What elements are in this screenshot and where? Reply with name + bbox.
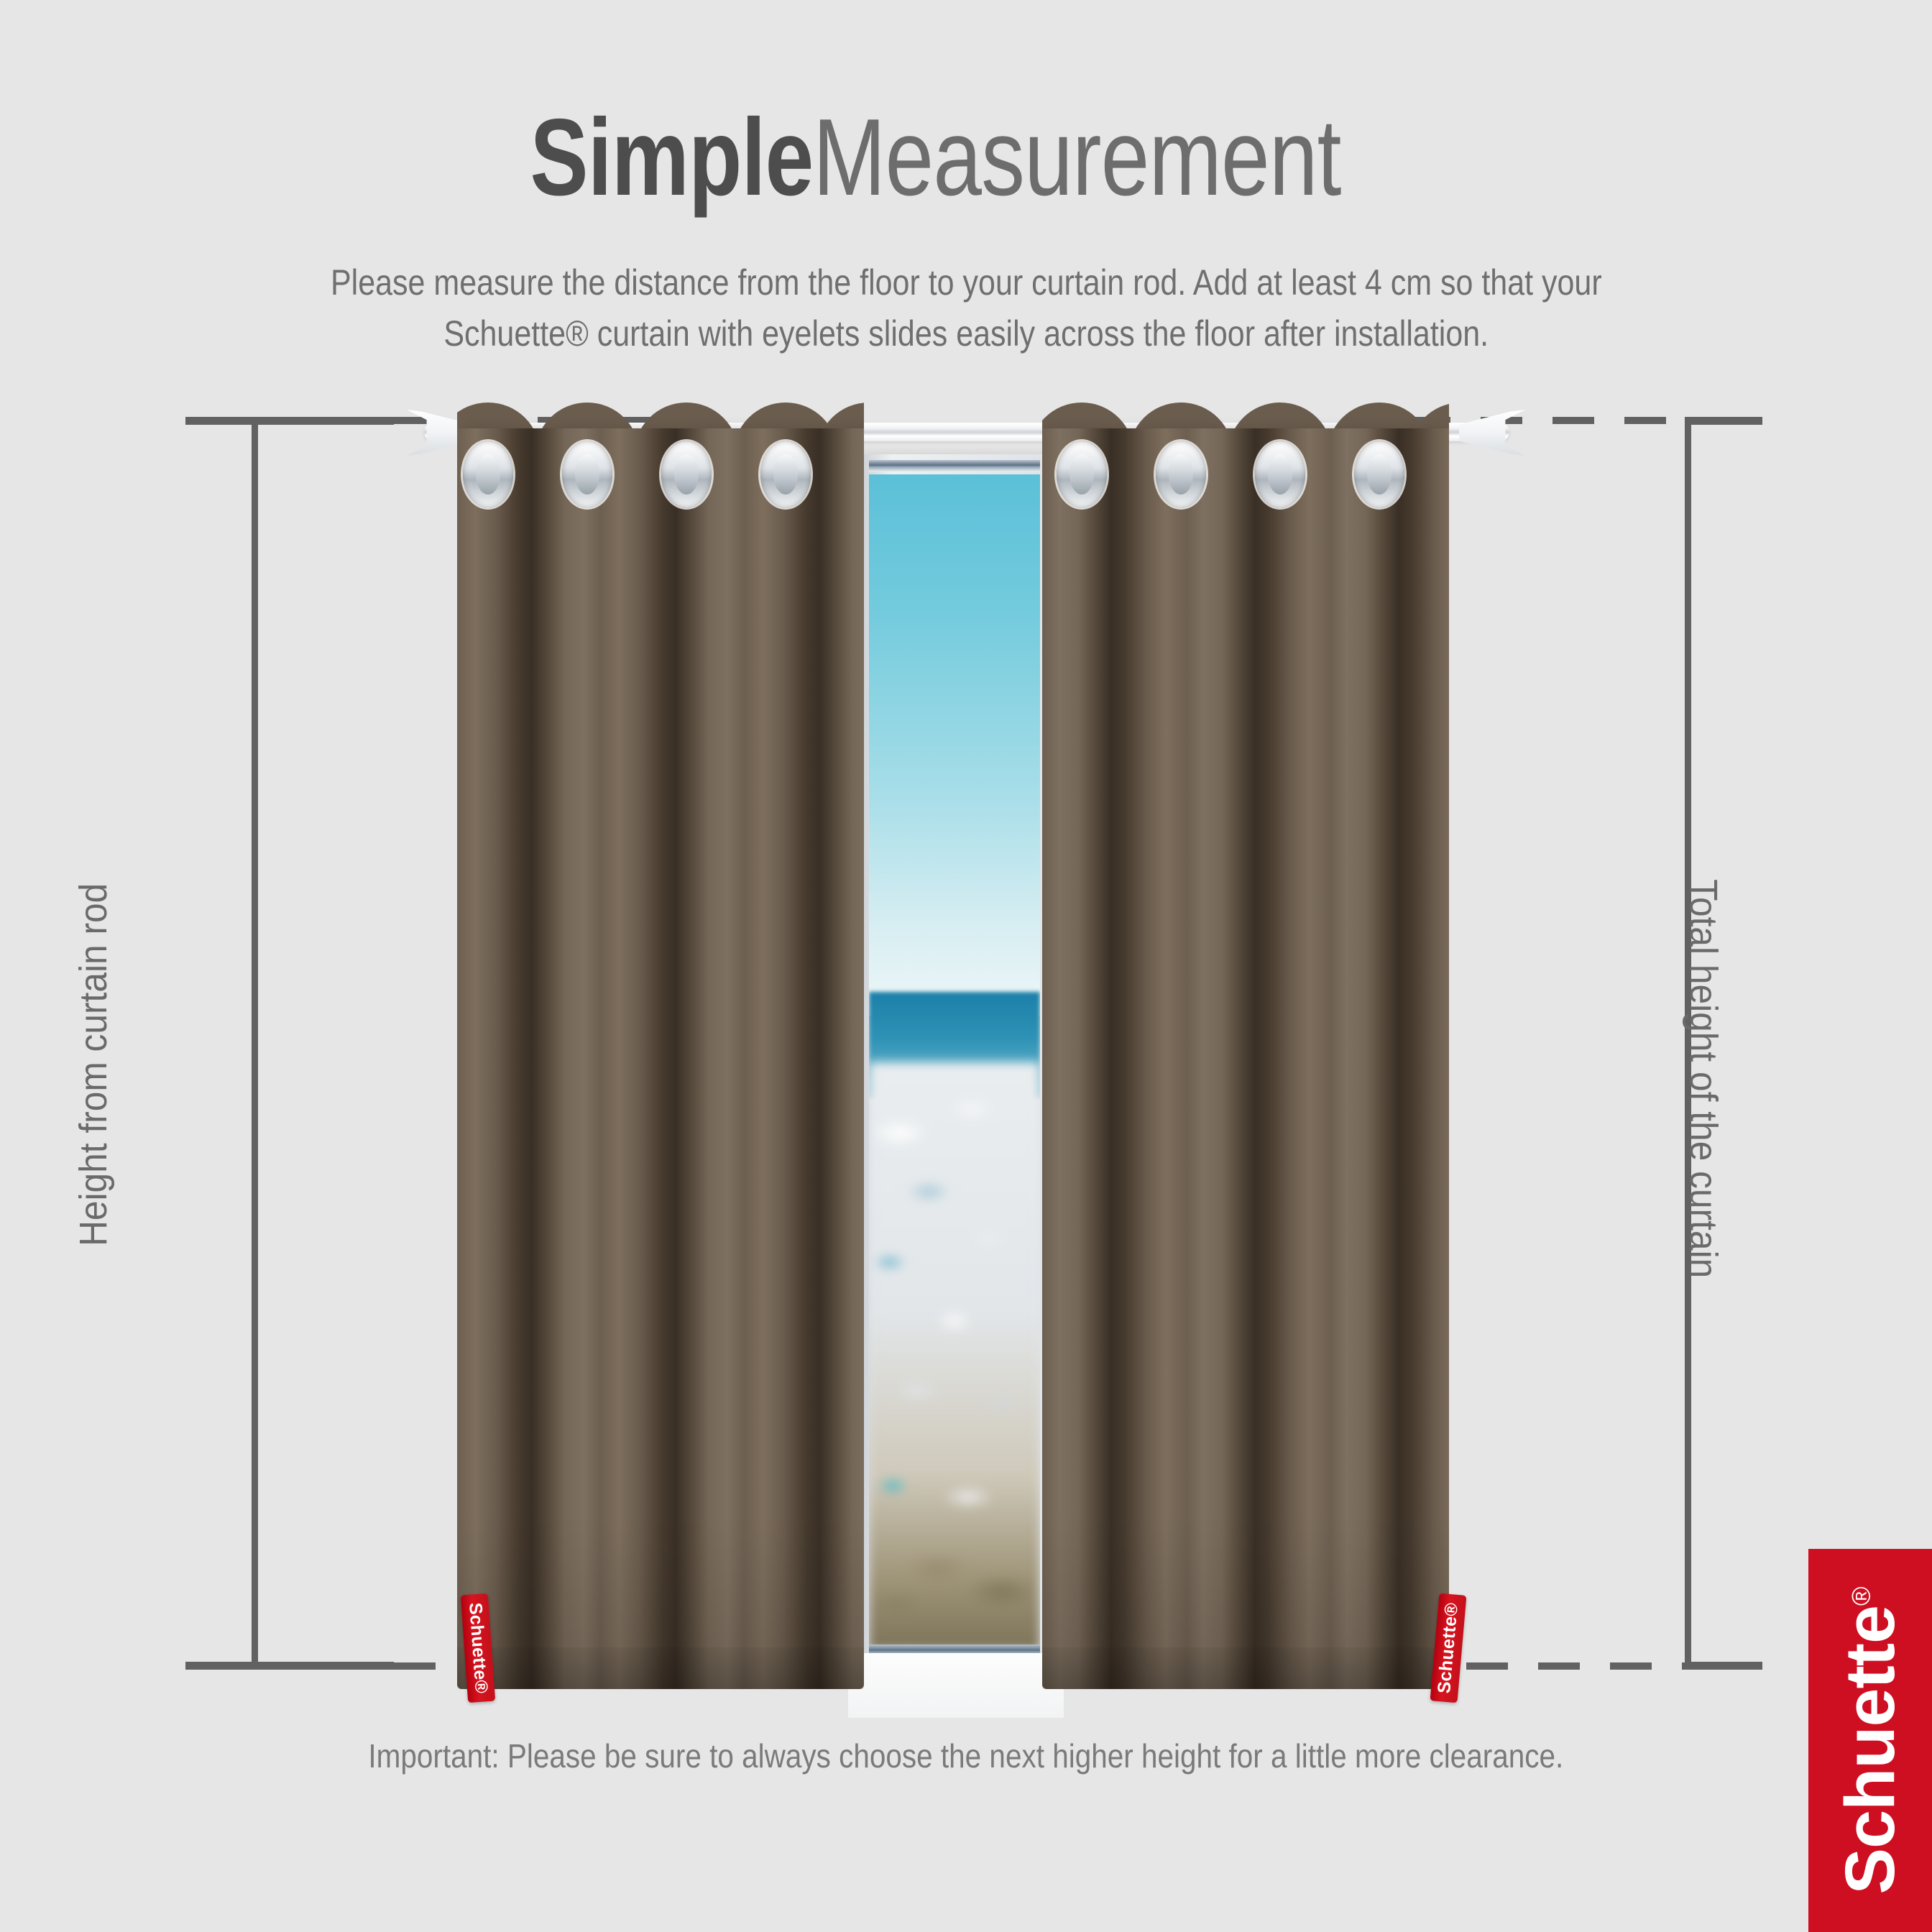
page-subtitle-line-2: Schuette® curtain with eyelets slides ea… [443,308,1489,359]
measurement-cap-right-top [1685,417,1762,425]
window-sky-view [869,474,1040,1016]
curtain-eyelet [1057,441,1107,507]
measurement-cap-right-bottom [1685,1662,1762,1670]
eyelet-hole [1268,454,1292,494]
brand-name: Schuette® [1830,1587,1910,1894]
eyelet-hole [476,454,500,494]
eyelet-hole [575,454,599,494]
measurement-label-left: Height from curtain rod [71,741,116,1388]
window-pane [869,474,1040,1650]
window-sill [848,1653,1064,1718]
window-town-view [869,1062,1040,1650]
curtain-eyelet [1156,441,1206,507]
curtain-eyelet [760,441,811,507]
page-footnote: Important: Please be sure to always choo… [118,1736,1814,1775]
curtain-panel-right [1042,402,1449,1689]
eyelet-hole [674,454,699,494]
curtain-eyelet [562,441,612,507]
infographic-canvas: Simple Measurement Please measure the di… [0,0,1932,1932]
eyelet-hole [1069,454,1094,494]
measurement-label-right: Total height of the curtain [1681,755,1726,1402]
product-tag-label: Schuette® [464,1602,492,1694]
curtain-eyelet [463,441,513,507]
curtain-eyelet [661,441,712,507]
eyelet-hole [1367,454,1391,494]
measurement-cap-left-top [185,417,394,425]
eyelet-hole [1169,454,1193,494]
page-title: Simple Measurement [0,101,1932,216]
curtain-hem-right [1042,1647,1449,1689]
brand-banner: Schuette® [1808,1549,1932,1932]
window-frame-top-bar [869,460,1040,471]
product-tag-label: Schuette® [1434,1602,1463,1695]
brand-name-text: Schuette [1831,1605,1909,1894]
page-title-light: Measurement [813,101,1341,216]
curtain-eyelet [1354,441,1404,507]
curtain-fabric-right [1042,428,1449,1689]
curtain-panel-left [457,402,864,1689]
registered-trademark-icon: ® [1846,1587,1876,1606]
page-subtitle-line-1: Please measure the distance from the flo… [331,257,1602,308]
page-subtitle: Please measure the distance from the flo… [197,257,1735,359]
curtain-eyelet [1255,441,1305,507]
curtain-hem-left [457,1647,864,1689]
eyelet-hole [773,454,798,494]
measurement-cap-left-bottom [185,1662,394,1670]
page-title-strong: Simple [530,101,813,216]
measurement-line-left-vertical [252,421,258,1669]
curtain-fabric-left [457,428,864,1689]
